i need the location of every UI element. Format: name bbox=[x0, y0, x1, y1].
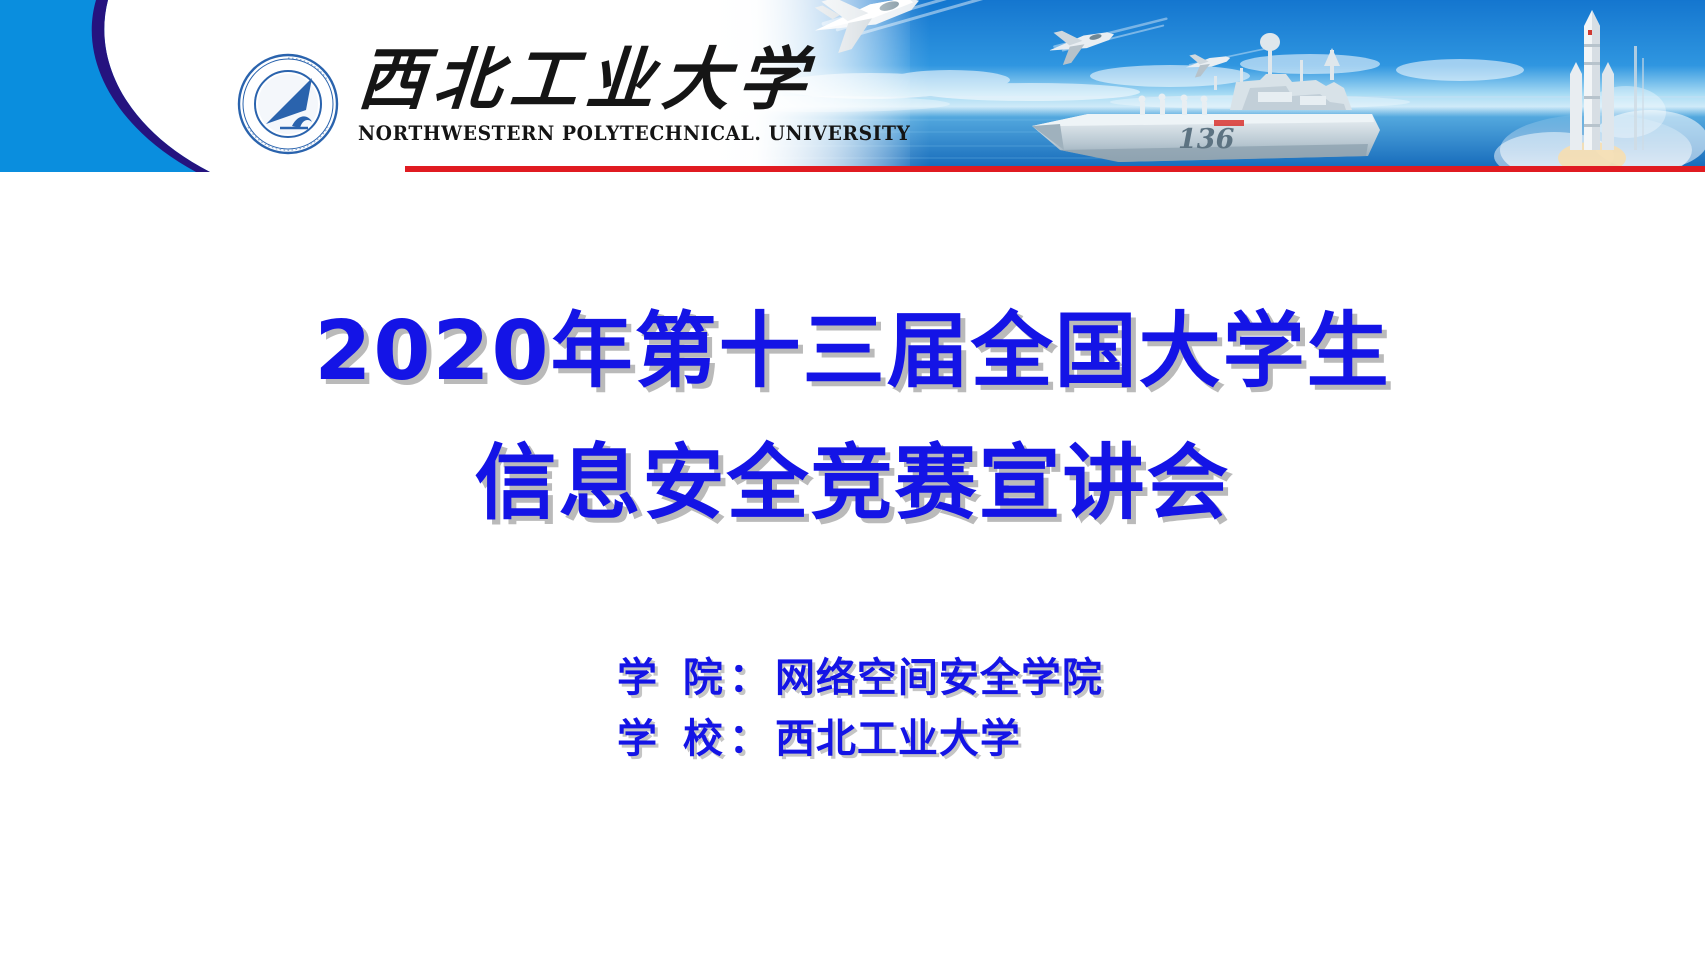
university-header-banner: 136 bbox=[0, 0, 1705, 172]
university-logo: 西北工业大学 NORTHWESTERN POLYTECHNICAL. UNIVE… bbox=[236, 46, 933, 166]
slide-title: 2020年第十三届全国大学生 信息安全竞赛宣讲会 bbox=[0, 286, 1705, 550]
info-label-college: 学 院： bbox=[617, 655, 775, 701]
info-row-school: 学 校：西北工业大学 bbox=[617, 709, 1103, 770]
info-label-school: 学 校： bbox=[617, 716, 775, 762]
info-row-college: 学 院：网络空间安全学院 bbox=[617, 648, 1103, 709]
info-value-college: 网络空间安全学院 bbox=[775, 655, 1103, 701]
presentation-title-slide: 136 bbox=[0, 0, 1705, 955]
logo-english-name: NORTHWESTERN POLYTECHNICAL. UNIVERSITY bbox=[358, 122, 910, 145]
ship-hull-number: 136 bbox=[1178, 124, 1235, 155]
info-value-school: 西北工业大学 bbox=[775, 716, 1021, 762]
presenter-info: 学 院：网络空间安全学院 学 校：西北工业大学 bbox=[617, 648, 1103, 770]
nwpu-seal-icon bbox=[236, 52, 340, 156]
title-line-1: 2020年第十三届全国大学生 bbox=[0, 286, 1705, 418]
title-line-2: 信息安全竞赛宣讲会 bbox=[0, 418, 1705, 550]
logo-chinese-name: 西北工业大学 bbox=[356, 46, 817, 114]
banner-red-rule bbox=[405, 166, 1705, 172]
